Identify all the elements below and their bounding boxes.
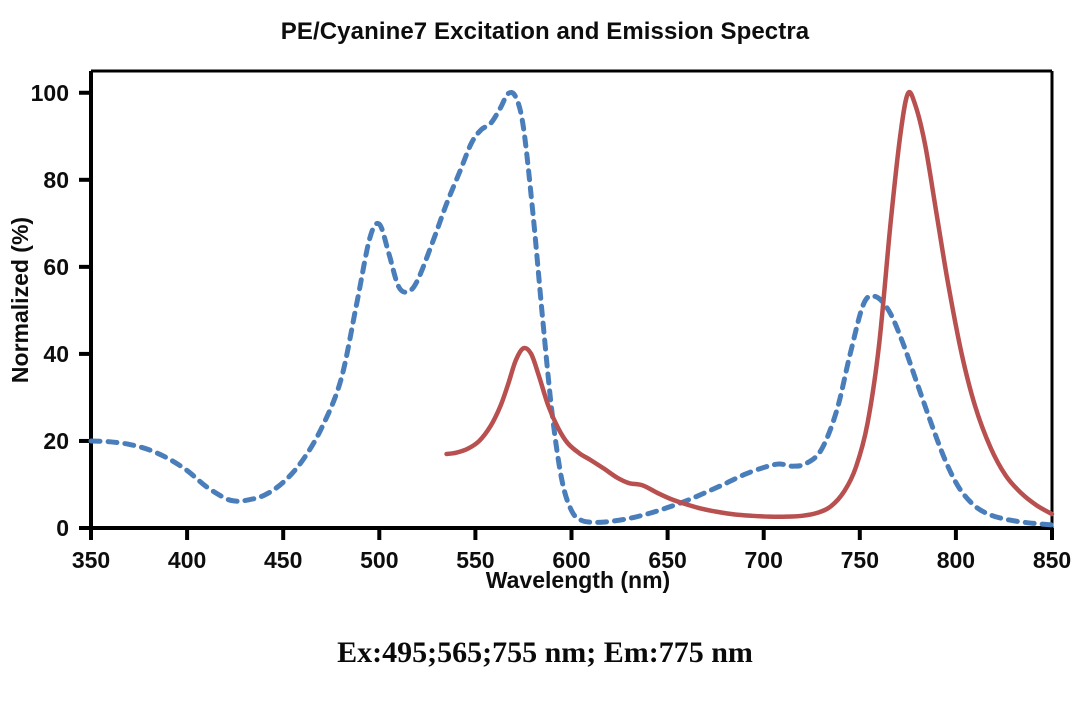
y-tick-label: 80 bbox=[43, 167, 69, 193]
x-tick-label: 400 bbox=[168, 547, 206, 573]
figure-caption: Ex:495;565;755 nm; Em:775 nm bbox=[0, 636, 1090, 670]
x-tick-label: 750 bbox=[841, 547, 879, 573]
y-axis-ticks: 020406080100 bbox=[31, 80, 91, 541]
x-tick-label: 800 bbox=[937, 547, 975, 573]
y-tick-label: 100 bbox=[31, 80, 69, 106]
spectra-figure: PE/Cyanine7 Excitation and Emission Spec… bbox=[0, 0, 1090, 703]
y-tick-label: 0 bbox=[56, 515, 69, 541]
y-tick-label: 60 bbox=[43, 254, 69, 280]
x-tick-label: 350 bbox=[72, 547, 110, 573]
x-tick-label: 500 bbox=[360, 547, 398, 573]
axis-lines bbox=[89, 71, 1052, 528]
x-axis-title: Wavelength (nm) bbox=[486, 567, 670, 593]
y-tick-label: 20 bbox=[43, 428, 69, 454]
emission-curve bbox=[447, 92, 1052, 517]
x-tick-label: 850 bbox=[1033, 547, 1071, 573]
x-tick-label: 450 bbox=[264, 547, 302, 573]
excitation-curve bbox=[91, 92, 1052, 525]
y-tick-label: 40 bbox=[43, 341, 69, 367]
y-axis-title: Normalized (%) bbox=[7, 217, 33, 383]
x-tick-label: 700 bbox=[745, 547, 783, 573]
plot-area: 020406080100 350400450500550600650700750… bbox=[0, 0, 1090, 620]
spectra-plot-svg: 020406080100 350400450500550600650700750… bbox=[0, 0, 1090, 620]
